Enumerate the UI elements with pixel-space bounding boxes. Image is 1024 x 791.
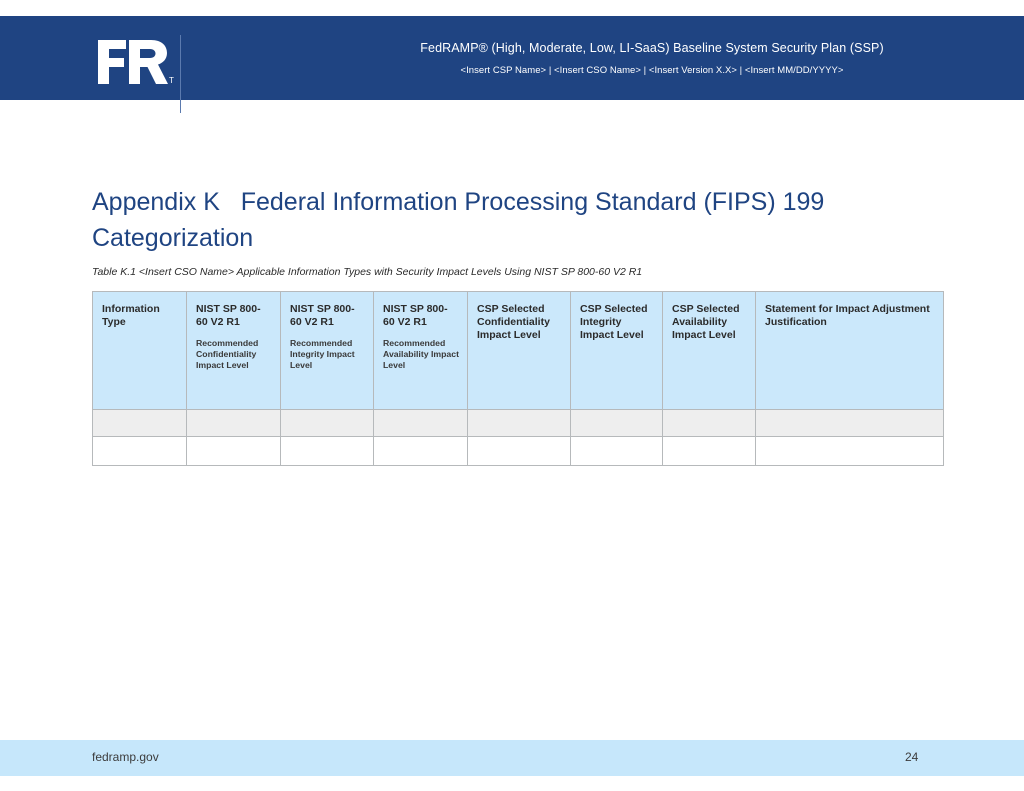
column-header-main: Information Type [102, 303, 178, 329]
column-header-main: CSP Selected Confidentiality Impact Leve… [477, 303, 562, 341]
column-header-main: NIST SP 800-60 V2 R1 [383, 303, 459, 329]
table-cell[interactable] [187, 410, 281, 437]
table-cell[interactable] [187, 437, 281, 466]
fedramp-fr-logo-icon: TM [96, 38, 174, 86]
header-divider [180, 35, 181, 113]
table-cell[interactable] [756, 410, 944, 437]
page-title: Appendix K Federal Information Processin… [92, 184, 892, 256]
column-header-main: Statement for Impact Adjustment Justific… [765, 303, 935, 329]
column-header-csp-selected-confidentiality: CSP Selected Confidentiality Impact Leve… [468, 292, 571, 410]
table-cell[interactable] [663, 410, 756, 437]
column-header-sub: Recommended Confidentiality Impact Level [196, 338, 272, 372]
header-document-subtitle: <Insert CSP Name> | <Insert CSO Name> | … [460, 65, 843, 76]
column-header-main: CSP Selected Integrity Impact Level [580, 303, 654, 341]
header-text-block: FedRAMP® (High, Moderate, Low, LI-SaaS) … [280, 16, 1024, 100]
table-row[interactable] [93, 410, 944, 437]
header-document-title: FedRAMP® (High, Moderate, Low, LI-SaaS) … [420, 41, 883, 55]
column-header-csp-selected-availability: CSP Selected Availability Impact Level [663, 292, 756, 410]
table-caption: Table K.1 <Insert CSO Name> Applicable I… [92, 266, 642, 278]
column-header-main: CSP Selected Availability Impact Level [672, 303, 747, 341]
column-header-sub: Recommended Integrity Impact Level [290, 338, 365, 372]
table-cell[interactable] [281, 437, 374, 466]
column-header-main: NIST SP 800-60 V2 R1 [196, 303, 272, 329]
column-header-main: NIST SP 800-60 V2 R1 [290, 303, 365, 329]
column-header-impact-adjustment-justification: Statement for Impact Adjustment Justific… [756, 292, 944, 410]
table-cell[interactable] [93, 410, 187, 437]
column-header-csp-selected-integrity: CSP Selected Integrity Impact Level [571, 292, 663, 410]
table-cell[interactable] [571, 437, 663, 466]
svg-text:TM: TM [169, 76, 174, 85]
footer-page-number: 24 [905, 750, 945, 764]
table-row[interactable] [93, 437, 944, 466]
table-header-row: Information Type NIST SP 800-60 V2 R1 Re… [93, 292, 944, 410]
footer-website-link[interactable]: fedramp.gov [92, 750, 159, 764]
table-cell[interactable] [374, 437, 468, 466]
table-cell[interactable] [468, 437, 571, 466]
fips-199-categorization-table: Information Type NIST SP 800-60 V2 R1 Re… [92, 291, 944, 466]
table-cell[interactable] [93, 437, 187, 466]
column-header-recommended-integrity: NIST SP 800-60 V2 R1 Recommended Integri… [281, 292, 374, 410]
table-cell[interactable] [756, 437, 944, 466]
column-header-recommended-confidentiality: NIST SP 800-60 V2 R1 Recommended Confide… [187, 292, 281, 410]
slide-canvas: TM FedRAMP® (High, Moderate, Low, LI-Saa… [0, 0, 1024, 791]
column-header-sub: Recommended Availability Impact Level [383, 338, 459, 372]
table-cell[interactable] [374, 410, 468, 437]
column-header-information-type: Information Type [93, 292, 187, 410]
table-cell[interactable] [663, 437, 756, 466]
column-header-recommended-availability: NIST SP 800-60 V2 R1 Recommended Availab… [374, 292, 468, 410]
table-cell[interactable] [571, 410, 663, 437]
table-cell[interactable] [468, 410, 571, 437]
page-header: TM FedRAMP® (High, Moderate, Low, LI-Saa… [0, 16, 1024, 100]
table-cell[interactable] [281, 410, 374, 437]
